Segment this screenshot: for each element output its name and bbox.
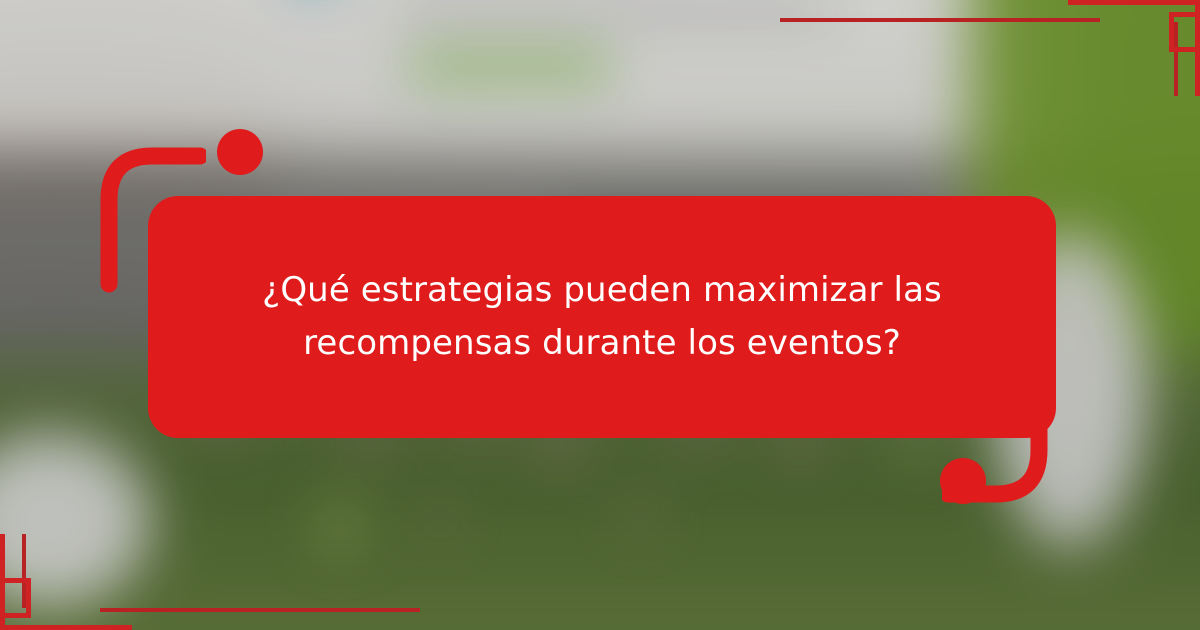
frame-corner-square [0, 578, 31, 618]
frame-corner-top-right [1068, 0, 1200, 96]
frame-corner-bottom-left [0, 534, 132, 630]
quote-banner: ¿Qué estrategias pueden maximizar las re… [148, 196, 1056, 438]
frame-inner-line-horizontal-top [780, 18, 1100, 22]
frame-line-horizontal [0, 625, 132, 630]
frame-inner-line-horizontal-bottom [100, 608, 420, 612]
quote-card-canvas: ¿Qué estrategias pueden maximizar las re… [0, 0, 1200, 630]
quote-text: ¿Qué estrategias pueden maximizar las re… [252, 264, 952, 369]
frame-corner-square [1169, 12, 1200, 52]
frame-line-horizontal [1068, 0, 1200, 5]
red-accent-dot-top [217, 129, 263, 175]
red-accent-dot-bottom [940, 458, 986, 504]
